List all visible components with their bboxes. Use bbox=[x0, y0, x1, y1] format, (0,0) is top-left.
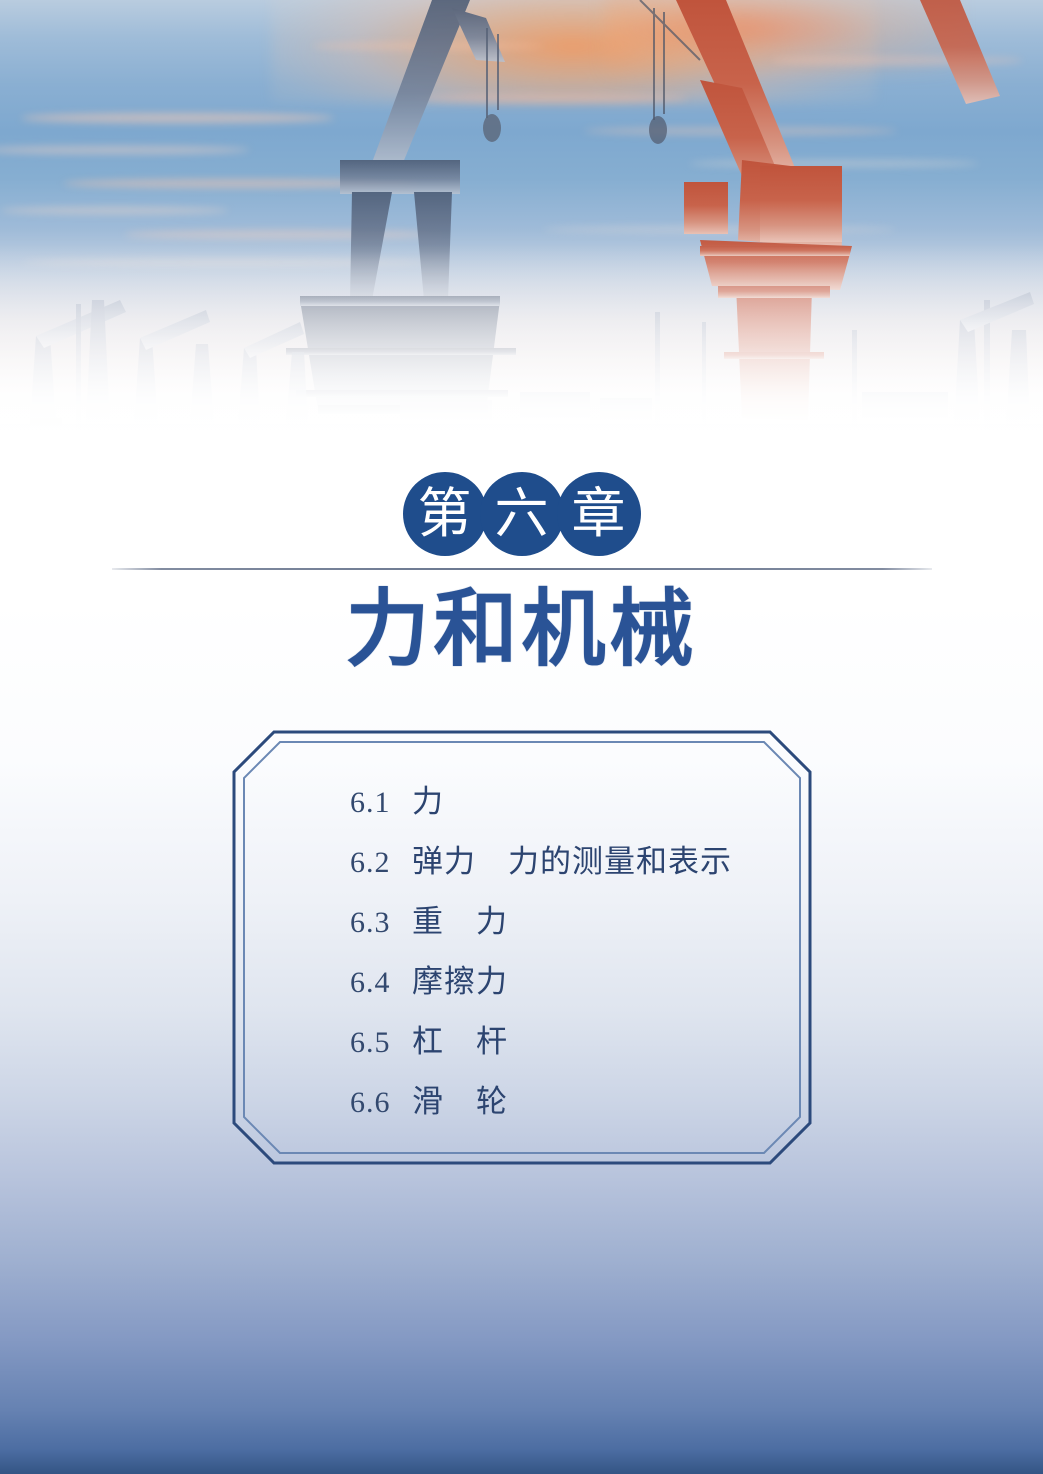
chapter-badge: 第 六 章 bbox=[0, 468, 1043, 560]
chapter-cover-page: 第 六 章 力和机械 6.1 力 6.2 弹力 力的测量和表示 6.3 重 力 bbox=[0, 0, 1043, 1474]
toc-item-number: 6.4 bbox=[350, 966, 412, 1000]
horizon-mist bbox=[0, 244, 1043, 470]
chapter-badge-char-2: 六 bbox=[480, 472, 564, 556]
toc-list: 6.1 力 6.2 弹力 力的测量和表示 6.3 重 力 6.4 摩擦力 6.5… bbox=[232, 730, 812, 1165]
toc-item-label: 摩擦力 bbox=[412, 956, 508, 1001]
toc-item-label: 力 bbox=[412, 776, 444, 821]
toc-item-6-4[interactable]: 6.4 摩擦力 bbox=[232, 956, 812, 1016]
toc-item-label: 弹力 力的测量和表示 bbox=[412, 836, 732, 881]
toc-item-label: 杠 杆 bbox=[412, 1016, 508, 1061]
page-title: 力和机械 bbox=[0, 584, 1043, 675]
toc-item-6-2[interactable]: 6.2 弹力 力的测量和表示 bbox=[232, 836, 812, 896]
toc-item-number: 6.1 bbox=[350, 786, 412, 820]
toc-item-label: 重 力 bbox=[412, 896, 508, 941]
chapter-badge-char-3: 章 bbox=[557, 472, 641, 556]
toc-item-6-3[interactable]: 6.3 重 力 bbox=[232, 896, 812, 956]
toc-panel: 6.1 力 6.2 弹力 力的测量和表示 6.3 重 力 6.4 摩擦力 6.5… bbox=[232, 730, 812, 1165]
toc-item-6-5[interactable]: 6.5 杠 杆 bbox=[232, 1016, 812, 1076]
toc-item-number: 6.5 bbox=[350, 1026, 412, 1060]
toc-item-number: 6.3 bbox=[350, 906, 412, 940]
toc-item-label: 滑 轮 bbox=[412, 1076, 508, 1121]
title-divider-rule bbox=[112, 568, 932, 570]
toc-item-number: 6.2 bbox=[350, 846, 412, 880]
chapter-badge-char-1: 第 bbox=[403, 472, 487, 556]
toc-item-6-1[interactable]: 6.1 力 bbox=[232, 776, 812, 836]
toc-item-number: 6.6 bbox=[350, 1086, 412, 1120]
hero-photo bbox=[0, 0, 1043, 470]
toc-item-6-6[interactable]: 6.6 滑 轮 bbox=[232, 1076, 812, 1136]
